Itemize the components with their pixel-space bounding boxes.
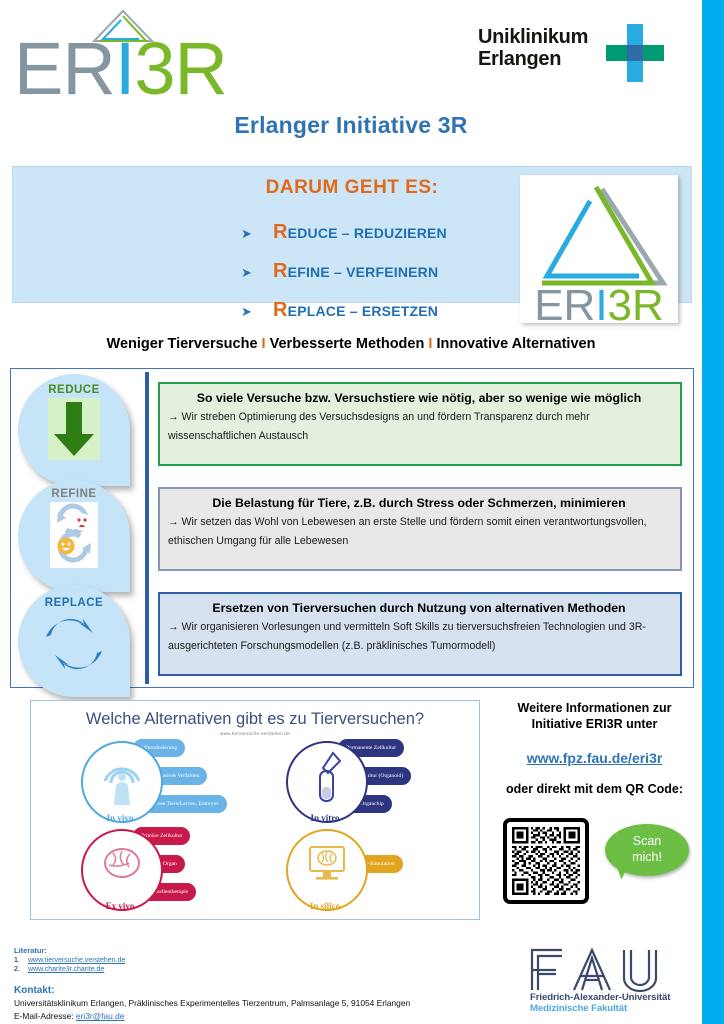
uniklinikum-line1: Uniklinikum xyxy=(478,26,588,48)
sad-happy-faces-icon xyxy=(46,502,102,568)
bullet-german: REDUZIEREN xyxy=(354,225,447,241)
card-replace-title: Ersetzen von Tierversuchen durch Nutzung… xyxy=(168,601,670,615)
page-title: Erlanger Initiative 3R xyxy=(0,112,702,139)
card-replace: Ersetzen von Tierversuchen durch Nutzung… xyxy=(158,592,682,676)
bullet-rest: EPLACE xyxy=(288,303,346,319)
literatur-number: 1. xyxy=(14,957,28,964)
fau-faculty: Medizinische Fakultät xyxy=(530,1003,627,1014)
literatur-number: 2. xyxy=(14,966,28,973)
logo-bar: I xyxy=(115,27,135,110)
quadrant-in-silico: Computer-Simulation In silico xyxy=(286,829,510,915)
fau-mark-icon xyxy=(528,944,694,994)
shield-label-reduce: REDUCE xyxy=(18,384,130,396)
svg-text:ERI3R: ERI3R xyxy=(534,281,664,323)
bullet-reduce: ➤ REDUCE – REDUZIEREN xyxy=(241,221,447,244)
slogan-part1: Weniger Tierversuche xyxy=(107,336,258,352)
test-tube-pipette-icon xyxy=(288,747,366,807)
intro-bullet-list: ➤ REDUCE – REDUZIEREN ➤ REFINE – VERFEIN… xyxy=(241,221,447,338)
eri3r-logo-large: ERI3R xyxy=(520,175,678,323)
card-refine: Die Belastung für Tiere, z.B. durch Stre… xyxy=(158,487,682,571)
uniklinikum-erlangen-logo: Uniklinikum Erlangen xyxy=(478,24,693,86)
slogan-separator: I xyxy=(262,336,266,352)
computer-brain-icon xyxy=(288,837,366,895)
kontakt-address: Universitätsklinikum Erlangen, Präklinis… xyxy=(14,997,494,1009)
card-reduce-title: So viele Versuche bzw. Versuchstiere wie… xyxy=(168,391,670,405)
recycle-arrows-icon xyxy=(43,613,105,675)
label-in-silico: In silico xyxy=(286,901,364,911)
bullet-cap: R xyxy=(273,260,288,282)
slogan-part2: Verbesserte Methoden xyxy=(270,336,425,352)
email-label: E-Mail-Adresse: xyxy=(14,1011,76,1021)
shield-label-replace: REPLACE xyxy=(18,597,130,609)
vertical-divider xyxy=(145,372,149,684)
alternatives-source: www.tierversuche-verstehen.de xyxy=(31,731,479,736)
qr-instruction: oder direkt mit dem QR Code: xyxy=(492,782,697,796)
bullet-cap: R xyxy=(273,221,288,243)
fau-logo: Friedrich-Alexander-Universität Medizini… xyxy=(528,944,694,1016)
quadrant-ex-vivo: Primäre Zellkultur Isoliertes Organ Stam… xyxy=(81,829,305,915)
eri3r-wordmark: ERI3R xyxy=(14,34,229,104)
shield-replace: REPLACE xyxy=(18,585,130,697)
bullet-refine: ➤ REFINE – VERFEINERN xyxy=(241,260,447,283)
info-heading: Weitere Informationen zur Initiative ERI… xyxy=(492,700,697,732)
medical-cross-icon xyxy=(606,24,664,82)
label-ex-vivo: Ex vivo xyxy=(81,901,159,911)
literatur-link-1[interactable]: www.tierversuche.verstehen.de xyxy=(28,957,125,964)
circle-in-vitro xyxy=(286,741,368,823)
bullet-dash: – xyxy=(330,264,346,280)
bullet-dash: – xyxy=(346,303,362,319)
card-replace-body: → Wir organisieren Vorlesungen und vermi… xyxy=(168,618,670,656)
qr-code-svg xyxy=(512,827,580,895)
card-reduce-body: → Wir streben Optimierung des Versuchsde… xyxy=(168,408,670,446)
bullet-cap: R xyxy=(273,299,288,321)
circle-in-vivo xyxy=(81,741,163,823)
label-in-vitro: In vitro xyxy=(286,813,364,823)
down-arrow-icon xyxy=(48,398,100,460)
literatur-heading: Literatur: xyxy=(14,946,494,955)
bullet-dash: – xyxy=(338,225,354,241)
logo-3r: 3R xyxy=(134,27,227,110)
uniklinikum-line2: Erlangen xyxy=(478,48,588,70)
chevron-right-icon: ➤ xyxy=(241,226,273,242)
info-heading-line1: Weitere Informationen zur xyxy=(492,700,697,716)
quadrant-in-vitro: Permanente Zellkultur 3D-Zellkultur (Org… xyxy=(286,741,510,827)
card-reduce: So viele Versuche bzw. Versuchstiere wie… xyxy=(158,382,682,466)
logo-er: ER xyxy=(14,27,115,110)
info-right-column: Weitere Informationen zur Initiative ERI… xyxy=(492,700,697,796)
eri3r-website-link[interactable]: www.fpz.fau.de/eri3r xyxy=(492,750,697,766)
slogan-separator: I xyxy=(428,336,432,352)
eri3r-logo: ERI3R xyxy=(14,8,229,104)
fau-name: Friedrich-Alexander-Universität xyxy=(530,992,670,1003)
card-refine-body: → Wir setzen das Wohl von Lebewesen an e… xyxy=(168,513,670,551)
literatur-item-2: 2. www.charite3r.charite.de xyxy=(14,966,494,973)
eri3r-logo-large-svg: ERI3R xyxy=(520,175,678,323)
slogan-bar: Weniger Tierversuche I Verbesserte Metho… xyxy=(12,336,690,352)
alternatives-infographic: Welche Alternativen gibt es zu Tierversu… xyxy=(30,700,480,920)
page-footer: Literatur: 1. www.tierversuche.verstehen… xyxy=(14,946,494,1022)
chevron-right-icon: ➤ xyxy=(241,265,273,281)
circle-ex-vivo xyxy=(81,829,163,911)
shield-label-refine: REFINE xyxy=(18,488,130,500)
right-accent-stripe xyxy=(702,0,724,1024)
literatur-link-2[interactable]: www.charite3r.charite.de xyxy=(28,966,104,973)
bullet-german: VERFEINERN xyxy=(346,264,438,280)
bubble-text: Scan mich! xyxy=(605,833,689,865)
quadrant-in-vivo: Mikrodosierung Nicht-invasives Verfahren… xyxy=(81,741,305,827)
label-in-vivo: In vivo xyxy=(81,813,159,823)
human-signal-icon xyxy=(83,747,161,807)
bubble-line1: Scan xyxy=(605,833,689,849)
page-header: ERI3R Uniklinikum Erlangen xyxy=(0,0,702,110)
scan-me-bubble: Scan mich! xyxy=(605,824,689,876)
bullet-replace: ➤ REPLACE – ERSETZEN xyxy=(241,299,447,322)
email-link[interactable]: eri3r@fau.de xyxy=(76,1011,125,1021)
kontakt-heading: Kontakt: xyxy=(14,985,494,996)
brain-icon xyxy=(83,839,161,895)
bullet-german: ERSETZEN xyxy=(362,303,438,319)
chevron-right-icon: ➤ xyxy=(241,304,273,320)
circle-in-silico xyxy=(286,829,368,911)
uniklinikum-text: Uniklinikum Erlangen xyxy=(478,26,588,70)
bullet-rest: EFINE xyxy=(288,264,330,280)
slogan-part3: Innovative Alternativen xyxy=(436,336,595,352)
bullet-rest: EDUCE xyxy=(288,225,338,241)
card-refine-title: Die Belastung für Tiere, z.B. durch Stre… xyxy=(168,496,670,510)
qr-code[interactable] xyxy=(503,818,589,904)
kontakt-email-row: E-Mail-Adresse: eri3r@fau.de xyxy=(14,1010,494,1022)
info-heading-line2: Initiative ERI3R unter xyxy=(492,716,697,732)
bubble-line2: mich! xyxy=(605,849,689,865)
literatur-item-1: 1. www.tierversuche.verstehen.de xyxy=(14,957,494,964)
alternatives-title: Welche Alternativen gibt es zu Tierversu… xyxy=(31,710,479,729)
shield-reduce: REDUCE xyxy=(18,374,130,486)
shield-refine: REFINE xyxy=(18,480,130,592)
